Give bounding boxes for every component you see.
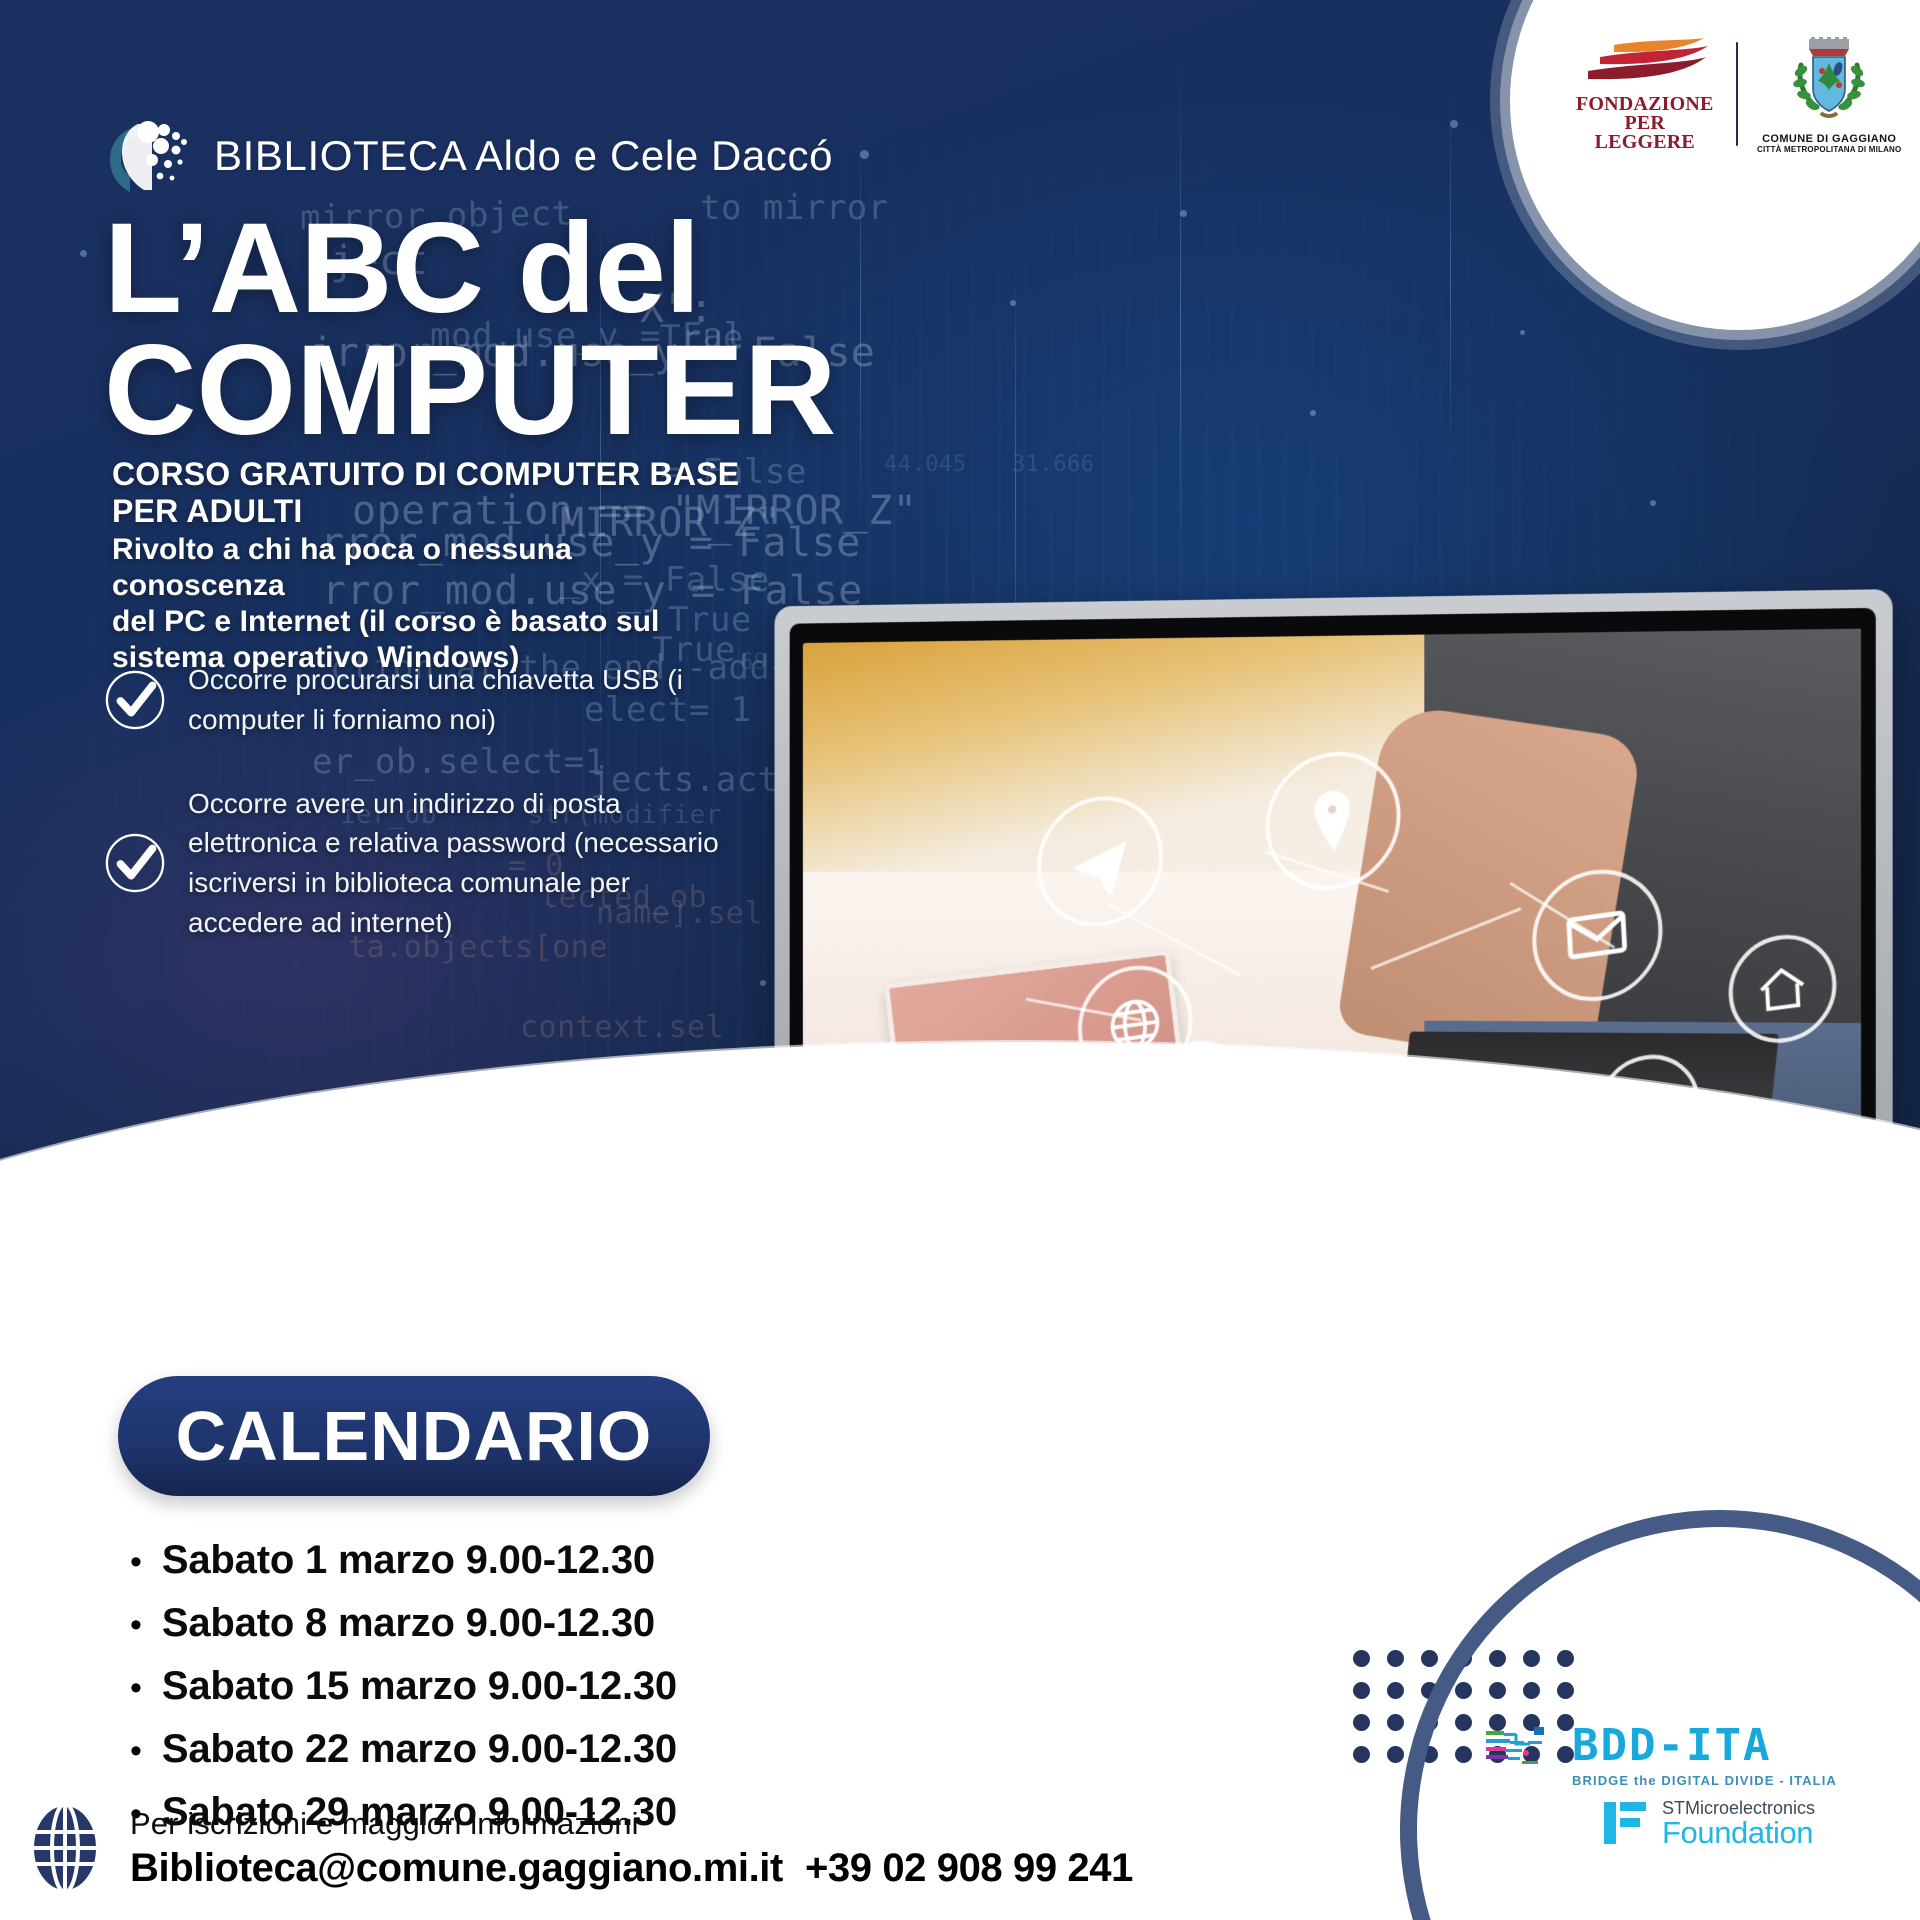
comune-subtitle: CITTÀ METROPOLITANA DI MILANO xyxy=(1757,145,1901,154)
title-line-2: COMPUTER xyxy=(104,330,1084,452)
course-subtitle: CORSO GRATUITO DI COMPUTER BASE PER ADUL… xyxy=(112,456,812,530)
description-line-1: Rivolto a chi ha poca o nessuna xyxy=(112,532,812,568)
poster-root: mirror object to mirror ject X": mod.use… xyxy=(0,0,1920,1920)
course-description: Rivolto a chi ha poca o nessuna conoscen… xyxy=(112,532,812,676)
calendar-badge-label: CALENDARIO xyxy=(176,1396,653,1476)
calendar-badge: CALENDARIO xyxy=(118,1376,710,1496)
description-line-3: del PC e Internet (il corso è basato sul xyxy=(112,604,812,640)
bullet-icon: • xyxy=(130,1608,142,1642)
requirement-item: Occorre procurarsi una chiavetta USB (i … xyxy=(104,660,784,740)
calendar-date: Sabato 22 marzo 9.00-12.30 xyxy=(162,1727,677,1772)
list-item: • Sabato 15 marzo 9.00-12.30 xyxy=(130,1664,850,1709)
check-circle-icon xyxy=(104,669,166,731)
fondazione-per-leggere-logo: FONDAZIONE PER LEGGERE xyxy=(1572,37,1718,152)
bdd-tagline: BRIDGE the DIGITAL DIVIDE - ITALIA xyxy=(1572,1773,1862,1788)
stmicroelectronics-foundation-logo: STMicroelectronics Foundation xyxy=(1600,1798,1862,1848)
calendar-date: Sabato 8 marzo 9.00-12.30 xyxy=(162,1601,655,1646)
requirements-list: Occorre procurarsi una chiavetta USB (i … xyxy=(104,660,784,987)
requirement-text: Occorre procurarsi una chiavetta USB (i … xyxy=(188,660,748,740)
list-item: • Sabato 8 marzo 9.00-12.30 xyxy=(130,1601,850,1646)
library-name: BIBLIOTECA Aldo e Cele Daccó xyxy=(214,132,833,180)
subtitle-line-1: CORSO GRATUITO DI COMPUTER BASE xyxy=(112,456,812,493)
fondazione-name: FONDAZIONE PER LEGGERE xyxy=(1572,95,1718,152)
swoosh-icon xyxy=(1580,37,1710,91)
bullet-icon: • xyxy=(130,1545,142,1579)
check-circle-icon xyxy=(104,832,166,894)
sponsor-logos: BDD-ITA BRIDGE the DIGITAL DIVIDE - ITAL… xyxy=(1482,1721,1862,1848)
bdd-name: BDD-ITA xyxy=(1572,1724,1771,1768)
bdd-ita-logo: BDD-ITA xyxy=(1482,1721,1862,1771)
coat-of-arms-icon xyxy=(1781,35,1877,131)
description-line-2: conoscenza xyxy=(112,568,812,604)
subtitle-line-2: PER ADULTI xyxy=(112,493,812,530)
footer-phone[interactable]: +39 02 908 99 241 xyxy=(805,1846,1133,1891)
logo-divider xyxy=(1736,42,1739,146)
partner-logos: FONDAZIONE PER LEGGERE xyxy=(1572,14,1902,174)
footer-contact: Per iscrizioni e maggiori informazioni B… xyxy=(26,1802,1133,1894)
footer-email[interactable]: Biblioteca@comune.gaggiano.mi.it xyxy=(130,1846,783,1891)
footer-contact-line: Biblioteca@comune.gaggiano.mi.it +39 02 … xyxy=(130,1846,1133,1891)
bullet-icon: • xyxy=(130,1734,142,1768)
footer-info-label: Per iscrizioni e maggiori informazioni xyxy=(130,1806,1133,1842)
library-header: BIBLIOTECA Aldo e Cele Daccó xyxy=(104,118,833,194)
calendar-date: Sabato 15 marzo 9.00-12.30 xyxy=(162,1664,677,1709)
bullet-icon: • xyxy=(130,1671,142,1705)
page-title: L’ABC del COMPUTER xyxy=(104,208,1084,451)
requirement-text: Occorre avere un indirizzo di posta elet… xyxy=(188,784,728,943)
comune-name: COMUNE DI GAGGIANO xyxy=(1762,133,1896,145)
list-item: • Sabato 1 marzo 9.00-12.30 xyxy=(130,1538,850,1583)
comune-gaggiano-logo: COMUNE DI GAGGIANO CITTÀ METROPOLITANA D… xyxy=(1756,35,1902,154)
stm-mark-icon xyxy=(1600,1798,1656,1848)
head-bubbles-icon xyxy=(104,118,192,194)
footer-text-block: Per iscrizioni e maggiori informazioni B… xyxy=(130,1806,1133,1891)
stm-line-2: Foundation xyxy=(1662,1817,1815,1848)
list-item: • Sabato 22 marzo 9.00-12.30 xyxy=(130,1727,850,1772)
globe-icon xyxy=(26,1802,104,1894)
circuit-icon xyxy=(1482,1721,1568,1771)
requirement-item: Occorre avere un indirizzo di posta elet… xyxy=(104,784,784,943)
calendar-date: Sabato 1 marzo 9.00-12.30 xyxy=(162,1538,655,1583)
